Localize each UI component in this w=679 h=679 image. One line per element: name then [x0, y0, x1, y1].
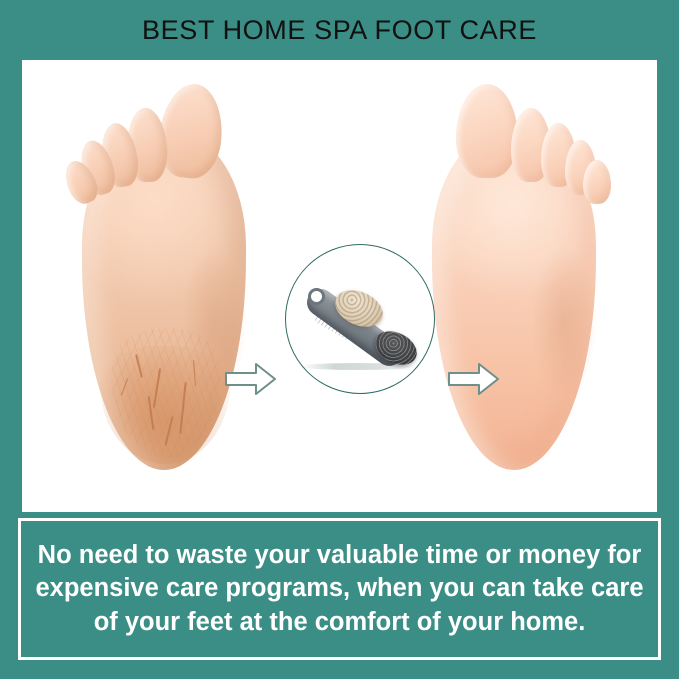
big-toe [155, 81, 226, 181]
toes-group [64, 78, 264, 208]
comparison-panel: BEFORE AFTER [22, 60, 657, 512]
before-foot-image [64, 78, 264, 473]
product-marketing-image: BEST HOME SPA FOOT CARE [0, 0, 679, 679]
toes-group [414, 78, 614, 208]
title-banner: BEST HOME SPA FOOT CARE [0, 0, 679, 60]
caption-text: No need to waste your valuable time or m… [21, 539, 658, 640]
page-title: BEST HOME SPA FOOT CARE [142, 15, 537, 46]
arch-shading [532, 248, 596, 398]
foot-file-pumice-icon [286, 245, 434, 393]
big-toe [456, 84, 518, 178]
little-toe [583, 160, 611, 204]
caption-banner: No need to waste your valuable time or m… [18, 518, 661, 660]
after-foot-image [414, 78, 614, 473]
arrow-right-outline-icon [225, 362, 277, 401]
product-circle [285, 244, 435, 394]
hanging-loop [308, 288, 325, 305]
arrow-right-outline-icon [448, 362, 500, 401]
cracked-heel-region [100, 346, 230, 464]
